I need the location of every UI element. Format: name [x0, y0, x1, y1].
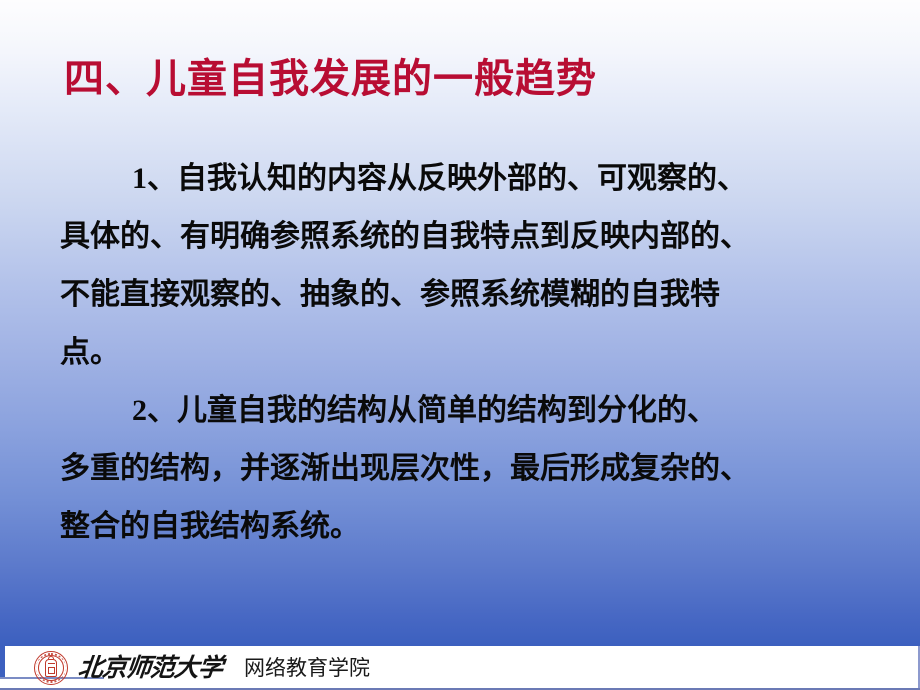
seal-bell-handle — [48, 656, 54, 659]
paragraph-2: 2、儿童自我的结构从简单的结构到分化的、 多重的结构，并逐渐出现层次性，最后形成… — [60, 382, 890, 556]
slide-footer: 北京师范大学 网络教育学院 — [0, 646, 920, 690]
university-seal-icon — [34, 651, 68, 685]
university-name: 北京师范大学 — [77, 656, 224, 681]
footer-brand: 北京师范大学 网络教育学院 — [34, 649, 370, 687]
slide-body: 1、自我认知的内容从反映外部的、可观察的、 具体的、有明确参照系统的自我特点到反… — [60, 150, 890, 556]
paragraph-2-line-3: 整合的自我结构系统。 — [60, 498, 890, 556]
college-name: 网络教育学院 — [244, 658, 370, 679]
paragraph-1-line-3: 不能直接观察的、抽象的、参照系统模糊的自我特 — [60, 266, 890, 324]
slide-title: 四、儿童自我发展的一般趋势 — [64, 56, 597, 102]
paragraph-1-line-2: 具体的、有明确参照系统的自我特点到反映内部的、 — [60, 208, 890, 266]
paragraph-2-line-2: 多重的结构，并逐渐出现层次性，最后形成复杂的、 — [60, 440, 890, 498]
paragraph-2-line-1: 2、儿童自我的结构从简单的结构到分化的、 — [60, 382, 890, 440]
paragraph-1: 1、自我认知的内容从反映外部的、可观察的、 具体的、有明确参照系统的自我特点到反… — [60, 150, 890, 382]
seal-bell-glyph — [45, 659, 57, 677]
footer-accent-strip — [0, 646, 5, 678]
paragraph-1-line-4: 点。 — [60, 324, 890, 382]
presentation-slide: 四、儿童自我发展的一般趋势 1、自我认知的内容从反映外部的、可观察的、 具体的、… — [0, 0, 920, 690]
paragraph-1-line-1: 1、自我认知的内容从反映外部的、可观察的、 — [60, 150, 890, 208]
